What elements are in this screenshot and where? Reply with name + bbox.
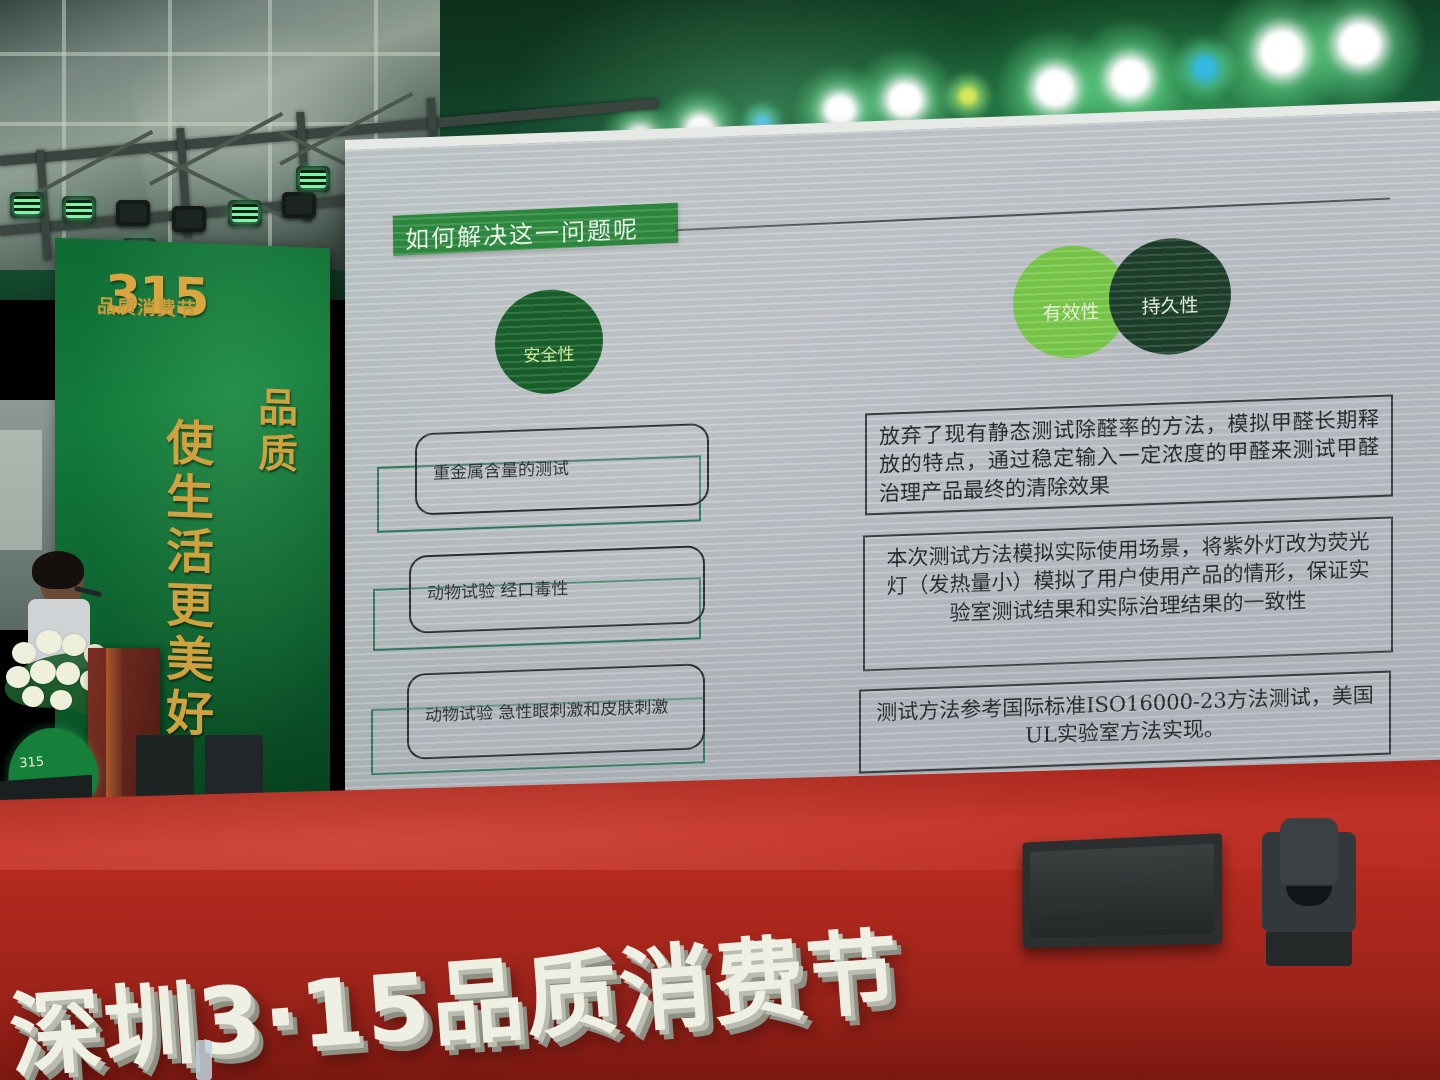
- speaker-grill: [1030, 844, 1214, 938]
- stage-photo: 如何解决这一问题呢 安全性 有效性 持久性 重金属含量的测试 动物试验 经: [0, 0, 1440, 1080]
- circle-durability-label: 持久性: [1141, 290, 1198, 319]
- light-head: [1280, 818, 1338, 884]
- par-lens: [176, 210, 202, 228]
- circle-safety-label: 安全性: [524, 339, 575, 366]
- title-underline: [675, 197, 1390, 231]
- info-panel-standard: 测试方法参考国际标准ISO16000-23方法测试，美国UL实验室方法实现。: [859, 671, 1391, 774]
- list-item-label: 动物试验 经口毒性: [411, 576, 584, 607]
- list-item-heavy-metal: 重金属含量的测试: [415, 423, 709, 516]
- truss-par-light: [10, 192, 44, 218]
- light-core: [1339, 23, 1381, 65]
- light-core: [1194, 57, 1216, 79]
- truss-par-light: [172, 206, 206, 232]
- info-panel-method: 放弃了现有静态测试除醛率的方法，模拟甲醛长期释放的特点，通过稳定输入一定浓度的甲…: [865, 394, 1393, 515]
- window-mullion: [168, 0, 172, 270]
- light-core: [825, 95, 855, 125]
- water-bottle: [196, 1040, 212, 1080]
- podium-logo-text: 315: [19, 755, 45, 772]
- slide-title-band: 如何解决这一问题呢: [393, 203, 678, 256]
- banner-vertical-text-slogan: 使生活更美好: [150, 416, 220, 743]
- par-lens: [120, 204, 146, 222]
- speaker-hair: [32, 551, 84, 589]
- list-item-label: 重金属含量的测试: [417, 456, 585, 487]
- par-lens: [232, 204, 258, 222]
- stage-monitor-speaker: [1023, 833, 1223, 948]
- moving-head-light: [1258, 818, 1358, 968]
- info-panel-scenario: 本次测试方法模拟实际使用场景，将紫外灯改为荧光灯（发热量小）模拟了用户使用产品的…: [863, 516, 1393, 671]
- left-wall-panel: [0, 430, 42, 550]
- page-title: 如何解决这一问题呢: [405, 209, 639, 255]
- truss-par-light: [116, 200, 150, 226]
- list-item-eye-skin-irritation: 动物试验 急性眼刺激和皮肤刺激: [407, 663, 705, 760]
- par-lens: [286, 196, 312, 214]
- truss-par-light: [282, 192, 316, 218]
- banner-vertical-text-quality: 品质: [245, 385, 303, 479]
- led-presentation-screen: 如何解决这一问题呢 安全性 有效性 持久性 重金属含量的测试 动物试验 经: [345, 111, 1440, 830]
- light-base: [1266, 930, 1352, 966]
- par-lens: [14, 196, 40, 214]
- slide-content: 如何解决这一问题呢 安全性 有效性 持久性 重金属含量的测试 动物试验 经: [345, 111, 1440, 830]
- banner-logo-subtitle: 品质消费节: [97, 291, 197, 322]
- par-lens: [300, 170, 326, 188]
- info-panel-text: 测试方法参考国际标准ISO16000-23方法测试，美国UL实验室方法实现。: [861, 673, 1389, 765]
- list-item-oral-toxicity: 动物试验 经口毒性: [409, 545, 705, 634]
- ceiling-spot-light: [943, 71, 993, 121]
- truss-par-light: [296, 166, 330, 192]
- light-core: [960, 88, 976, 104]
- light-core: [888, 83, 922, 117]
- circle-durability: 持久性: [1109, 236, 1231, 356]
- truss-par-light: [228, 200, 262, 226]
- list-item-label: 动物试验 急性眼刺激和皮肤刺激: [409, 695, 684, 729]
- info-panel-text: 放弃了现有静态测试除醛率的方法，模拟甲醛长期释放的特点，通过稳定输入一定浓度的甲…: [867, 397, 1391, 517]
- circle-safety: 安全性: [495, 288, 603, 396]
- par-lens: [66, 200, 92, 218]
- light-core: [1036, 69, 1074, 107]
- light-core: [1111, 59, 1149, 97]
- circle-effectiveness-label: 有效性: [1042, 296, 1099, 325]
- info-panel-text: 本次测试方法模拟实际使用场景，将紫外灯改为荧光灯（发热量小）模拟了用户使用产品的…: [865, 519, 1391, 639]
- truss-par-light: [62, 196, 96, 222]
